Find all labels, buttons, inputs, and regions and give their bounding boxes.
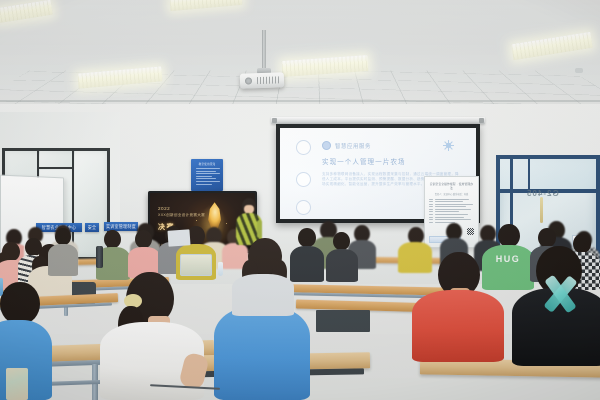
head xyxy=(538,228,556,247)
notice-row xyxy=(429,219,474,220)
door-pane-upper-mid xyxy=(40,151,72,167)
head xyxy=(498,224,520,247)
ceiling xyxy=(0,0,600,120)
poster-line xyxy=(196,173,220,174)
projector-vent xyxy=(257,76,279,84)
head xyxy=(135,230,152,248)
slide-bullet-2 xyxy=(296,172,311,187)
head xyxy=(55,228,71,245)
spark xyxy=(226,223,227,224)
notice-row xyxy=(429,199,474,200)
notice-board-subheading: 责任人：实训中心 联系电话：内线 xyxy=(429,192,474,196)
screen-case-cap-right xyxy=(479,118,484,123)
presenter-arm xyxy=(257,220,262,238)
slide-bullet-1 xyxy=(296,140,311,155)
light-panel-5 xyxy=(511,32,593,60)
poster-line xyxy=(196,171,216,172)
notice-row xyxy=(429,211,474,212)
door-transom-mullion xyxy=(528,159,530,189)
torso xyxy=(214,306,310,400)
notice-row xyxy=(429,204,474,205)
water-bottle xyxy=(0,278,3,296)
shirt-x-graphic xyxy=(538,273,581,314)
wall-info-poster: 教室使用须知 xyxy=(191,159,223,191)
light-panel-1 xyxy=(0,0,53,23)
slide-title: 实现一个人管理一片农场 xyxy=(322,156,406,166)
poster-line xyxy=(196,184,212,185)
desk-understructure xyxy=(316,310,370,332)
poster-line xyxy=(196,181,220,182)
door-mullion-h1 xyxy=(38,167,73,169)
head xyxy=(333,232,350,250)
head xyxy=(0,282,40,324)
notice-row xyxy=(429,217,474,218)
torso xyxy=(232,274,294,316)
notice-row xyxy=(429,206,474,207)
poster-line xyxy=(196,168,220,169)
notice-row xyxy=(429,214,474,215)
projector-lens xyxy=(245,77,252,84)
circle-check-icon xyxy=(322,141,331,150)
hanging-cord xyxy=(540,197,543,223)
slide-bullet-3 xyxy=(296,200,311,215)
student-teal-braids xyxy=(232,238,294,316)
projection-screen-case xyxy=(271,117,485,124)
door-transom xyxy=(500,159,596,189)
slide-eyebrow: 智慧应用服务 xyxy=(335,142,371,150)
torso xyxy=(412,290,504,362)
audience-front-rows xyxy=(0,268,600,400)
wall-info-poster-title: 教室使用须知 xyxy=(194,162,220,166)
notice-row xyxy=(429,201,474,202)
notice-row xyxy=(429,209,474,210)
laptop xyxy=(167,229,190,246)
poster-line xyxy=(196,176,212,177)
ceiling-wall-seam xyxy=(0,100,600,102)
screen-case-cap-left xyxy=(272,118,277,123)
head xyxy=(298,228,316,247)
tv-year-label: 2022 xyxy=(158,206,170,211)
light-panel-2 xyxy=(170,0,243,11)
classroom-photo-scene: 智慧农业实训中心 安全 实训室管理制度 教室使用须知 智慧应用服务 实现一个人 xyxy=(0,0,600,400)
tv-subtitle: XXX创新创业设计竞赛大赛 xyxy=(158,213,205,218)
student-white-tshirt xyxy=(96,272,206,400)
ceiling-sensor xyxy=(575,68,583,73)
notice-board-heading: 实训室安全操作规程 · 使用管理办法 xyxy=(429,182,474,190)
student-black-x-tee xyxy=(512,246,600,366)
ceiling-projector xyxy=(240,72,284,89)
projector-mount-pole xyxy=(262,30,266,70)
student-red-tshirt xyxy=(412,252,504,362)
tote-bag xyxy=(6,368,28,400)
poster-line xyxy=(196,178,216,179)
head xyxy=(104,230,121,248)
sun-icon xyxy=(443,140,454,151)
thermos xyxy=(96,246,103,268)
